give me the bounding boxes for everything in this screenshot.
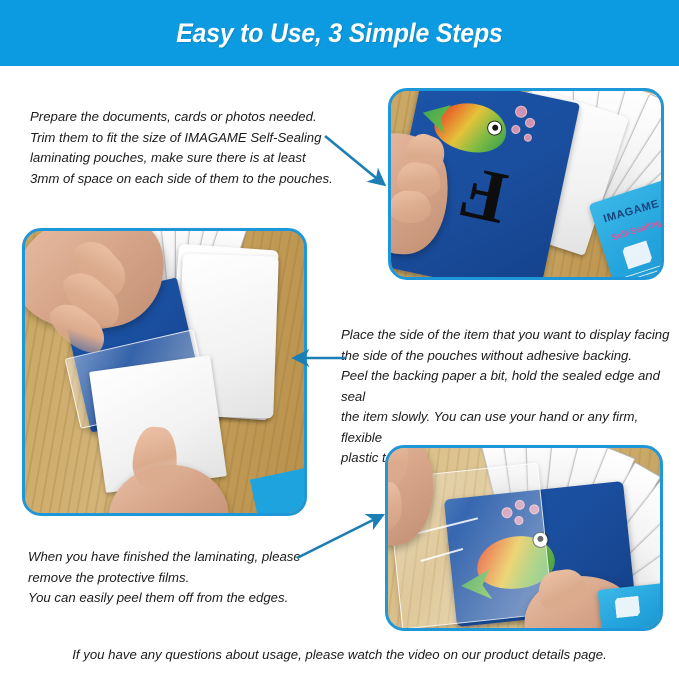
card-letter: F <box>454 154 514 236</box>
step-2-photo <box>22 228 307 516</box>
header-banner: Easy to Use, 3 Simple Steps <box>0 0 679 66</box>
page-title: Easy to Use, 3 Simple Steps <box>176 18 502 49</box>
step-1-instruction-text: Prepare the documents, cards or photos n… <box>30 107 360 189</box>
step-3-instruction-text: When you have finished the laminating, p… <box>28 547 358 609</box>
step-3-photo: F <box>385 445 663 631</box>
step-1-photo-content: F IMAGAME Self-Sealing <box>391 91 661 277</box>
step-2-photo-content <box>25 231 304 513</box>
footer-note: If you have any questions about usage, p… <box>0 647 679 662</box>
infographic-page: Easy to Use, 3 Simple Steps Prepare the … <box>0 0 679 679</box>
imagame-product-box <box>597 582 660 628</box>
step-1-photo: F IMAGAME Self-Sealing <box>388 88 664 280</box>
step-3-photo-content: F <box>388 448 660 628</box>
